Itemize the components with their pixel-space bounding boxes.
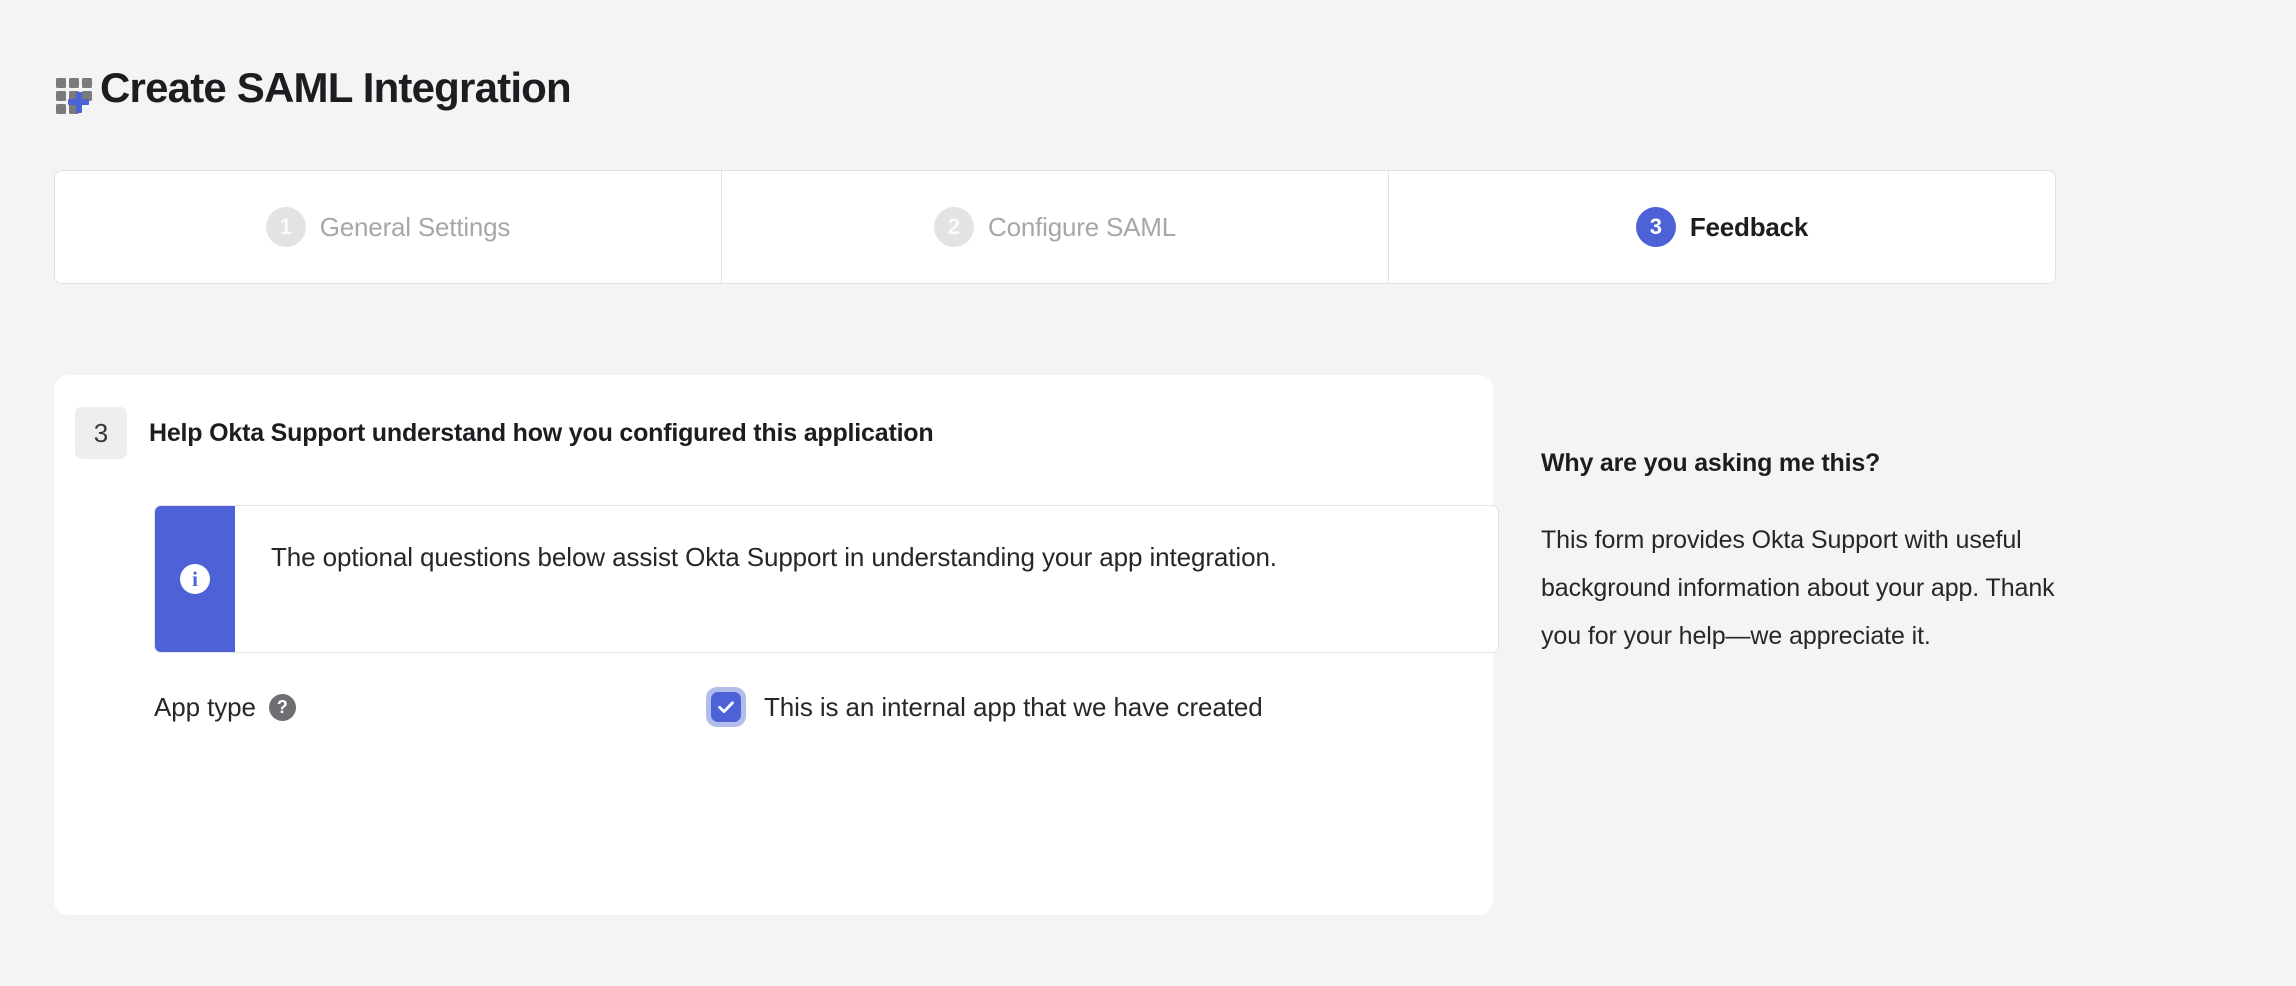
help-aside-body: This form provides Okta Support with use… xyxy=(1541,516,2071,660)
info-banner-text: The optional questions below assist Okta… xyxy=(271,534,1464,581)
app-grid-add-icon xyxy=(54,68,98,112)
checkbox-fill xyxy=(711,692,741,722)
internal-app-checkbox-row[interactable]: This is an internal app that we have cre… xyxy=(706,687,1263,727)
info-banner-accent-bar: i xyxy=(155,506,235,652)
internal-app-checkbox-label: This is an internal app that we have cre… xyxy=(764,692,1263,723)
info-banner: i The optional questions below assist Ok… xyxy=(154,505,1499,653)
page-title: Create SAML Integration xyxy=(100,67,571,109)
card-title: Help Okta Support understand how you con… xyxy=(149,419,933,448)
help-aside: Why are you asking me this? This form pr… xyxy=(1541,448,2071,660)
check-icon xyxy=(716,697,736,717)
tab-label-feedback: Feedback xyxy=(1690,212,1808,243)
tab-badge-3: 3 xyxy=(1636,207,1676,247)
tab-badge-1: 1 xyxy=(266,207,306,247)
page-root: Create SAML Integration 1 General Settin… xyxy=(0,0,2296,986)
feedback-card: 3 Help Okta Support understand how you c… xyxy=(54,375,1493,915)
info-icon: i xyxy=(180,564,210,594)
tab-feedback[interactable]: 3 Feedback xyxy=(1389,171,2055,283)
question-mark-icon[interactable]: ? xyxy=(269,694,296,721)
app-type-row: App type ? This is an internal app that … xyxy=(154,685,1474,729)
app-type-label-group: App type ? xyxy=(154,692,706,723)
step-number-chip: 3 xyxy=(75,407,127,459)
wizard-tab-bar: 1 General Settings 2 Configure SAML 3 Fe… xyxy=(54,170,2056,284)
tab-badge-2: 2 xyxy=(934,207,974,247)
tab-configure-saml[interactable]: 2 Configure SAML xyxy=(722,171,1389,283)
app-type-label: App type xyxy=(154,692,256,723)
page-header: Create SAML Integration xyxy=(54,60,571,116)
help-aside-title: Why are you asking me this? xyxy=(1541,448,2071,478)
internal-app-checkbox[interactable] xyxy=(706,687,746,727)
tab-label-configure-saml: Configure SAML xyxy=(988,212,1176,243)
card-header: 3 Help Okta Support understand how you c… xyxy=(75,407,933,459)
tab-general-settings[interactable]: 1 General Settings xyxy=(55,171,722,283)
tab-label-general-settings: General Settings xyxy=(320,212,510,243)
info-banner-body: The optional questions below assist Okta… xyxy=(235,506,1498,652)
